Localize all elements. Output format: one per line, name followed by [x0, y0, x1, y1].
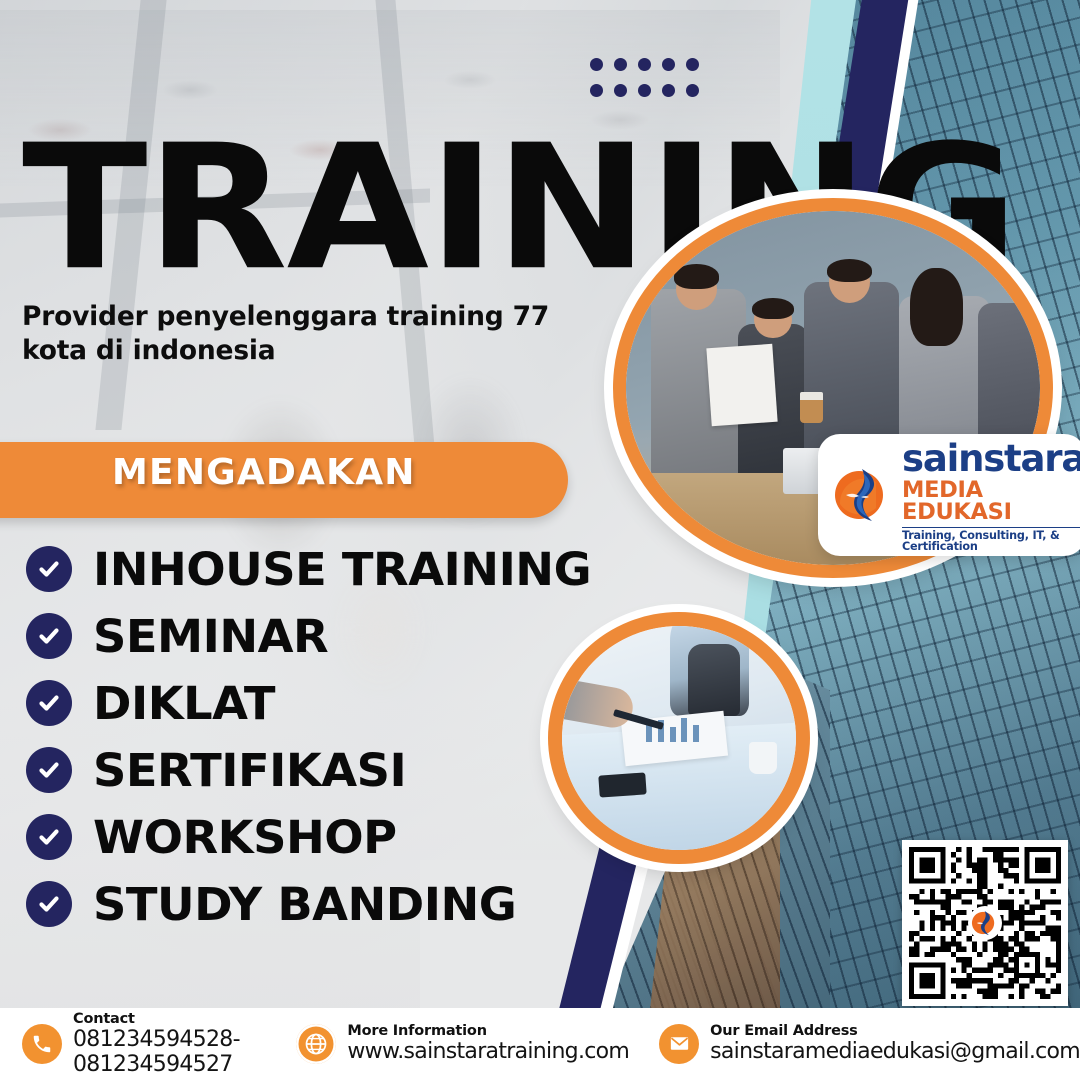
- contact-text: Contact081234594528-081234594527: [73, 1011, 264, 1077]
- check-icon: [26, 814, 72, 860]
- contact-value: www.sainstaratraining.com: [347, 1040, 629, 1065]
- contact-item-globe[interactable]: More Informationwww.sainstaratraining.co…: [296, 1023, 629, 1065]
- sainstara-mark-icon: [968, 906, 1002, 940]
- dot: [662, 84, 675, 97]
- dot: [614, 58, 627, 71]
- dot: [590, 58, 603, 71]
- mengadakan-banner-label: MENGADAKAN: [112, 452, 416, 493]
- service-item-label: STUDY BANDING: [93, 882, 516, 927]
- contact-text: Our Email Addresssainstaramediaedukasi@g…: [710, 1023, 1080, 1065]
- service-item-seminar: SEMINAR: [26, 613, 577, 659]
- service-item-workshop: WORKSHOP: [26, 814, 577, 860]
- dot: [614, 84, 627, 97]
- contact-item-envelope[interactable]: Our Email Addresssainstaramediaedukasi@g…: [659, 1023, 1080, 1065]
- service-item-inhouse-training: INHOUSE TRAINING: [26, 546, 577, 592]
- sainstara-logo-badge: sainstara MEDIA EDUKASI Training, Consul…: [818, 434, 1080, 556]
- phone-icon: [22, 1024, 62, 1064]
- services-checklist: INHOUSE TRAININGSEMINARDIKLATSERTIFIKASI…: [26, 546, 577, 927]
- contact-bar: Contact081234594528-081234594527More Inf…: [0, 1008, 1080, 1080]
- check-icon: [26, 680, 72, 726]
- check-icon: [26, 747, 72, 793]
- logo-subtitle: MEDIA EDUKASI: [902, 479, 1080, 524]
- logo-name: sainstara: [902, 440, 1080, 477]
- training-poster: TRAINING Provider penyelenggara training…: [0, 0, 1080, 1080]
- service-item-label: WORKSHOP: [93, 815, 397, 860]
- contact-value: 081234594528-081234594527: [73, 1028, 264, 1077]
- check-icon: [26, 613, 72, 659]
- contact-item-phone[interactable]: Contact081234594528-081234594527: [22, 1011, 264, 1077]
- contact-label: More Information: [347, 1023, 629, 1039]
- service-item-label: SEMINAR: [93, 614, 328, 659]
- globe-icon: [296, 1024, 336, 1064]
- flame-indonesia-logo-icon: [832, 464, 894, 526]
- dot-grid-decoration: [590, 58, 710, 110]
- dot: [638, 84, 651, 97]
- service-item-label: SERTIFIKASI: [93, 748, 406, 793]
- service-item-sertifikasi: SERTIFIKASI: [26, 747, 577, 793]
- contact-text: More Informationwww.sainstaratraining.co…: [347, 1023, 629, 1065]
- service-item-label: DIKLAT: [93, 681, 275, 726]
- contact-label: Contact: [73, 1011, 264, 1027]
- contact-value: sainstaramediaedukasi@gmail.com: [710, 1040, 1080, 1065]
- dot: [638, 58, 651, 71]
- dot: [590, 84, 603, 97]
- desk-charts-analysis-photo: [548, 612, 810, 864]
- dot: [662, 58, 675, 71]
- dot: [686, 84, 699, 97]
- dot: [686, 58, 699, 71]
- logo-tagline: Training, Consulting, IT, & Certificatio…: [902, 527, 1080, 552]
- envelope-icon: [659, 1024, 699, 1064]
- check-icon: [26, 546, 72, 592]
- service-item-label: INHOUSE TRAINING: [93, 547, 591, 592]
- service-item-study-banding: STUDY BANDING: [26, 881, 577, 927]
- contact-label: Our Email Address: [710, 1023, 1080, 1039]
- qr-code[interactable]: [902, 840, 1068, 1006]
- check-icon: [26, 881, 72, 927]
- service-item-diklat: DIKLAT: [26, 680, 577, 726]
- subtitle: Provider penyelenggara training 77 kota …: [22, 300, 622, 369]
